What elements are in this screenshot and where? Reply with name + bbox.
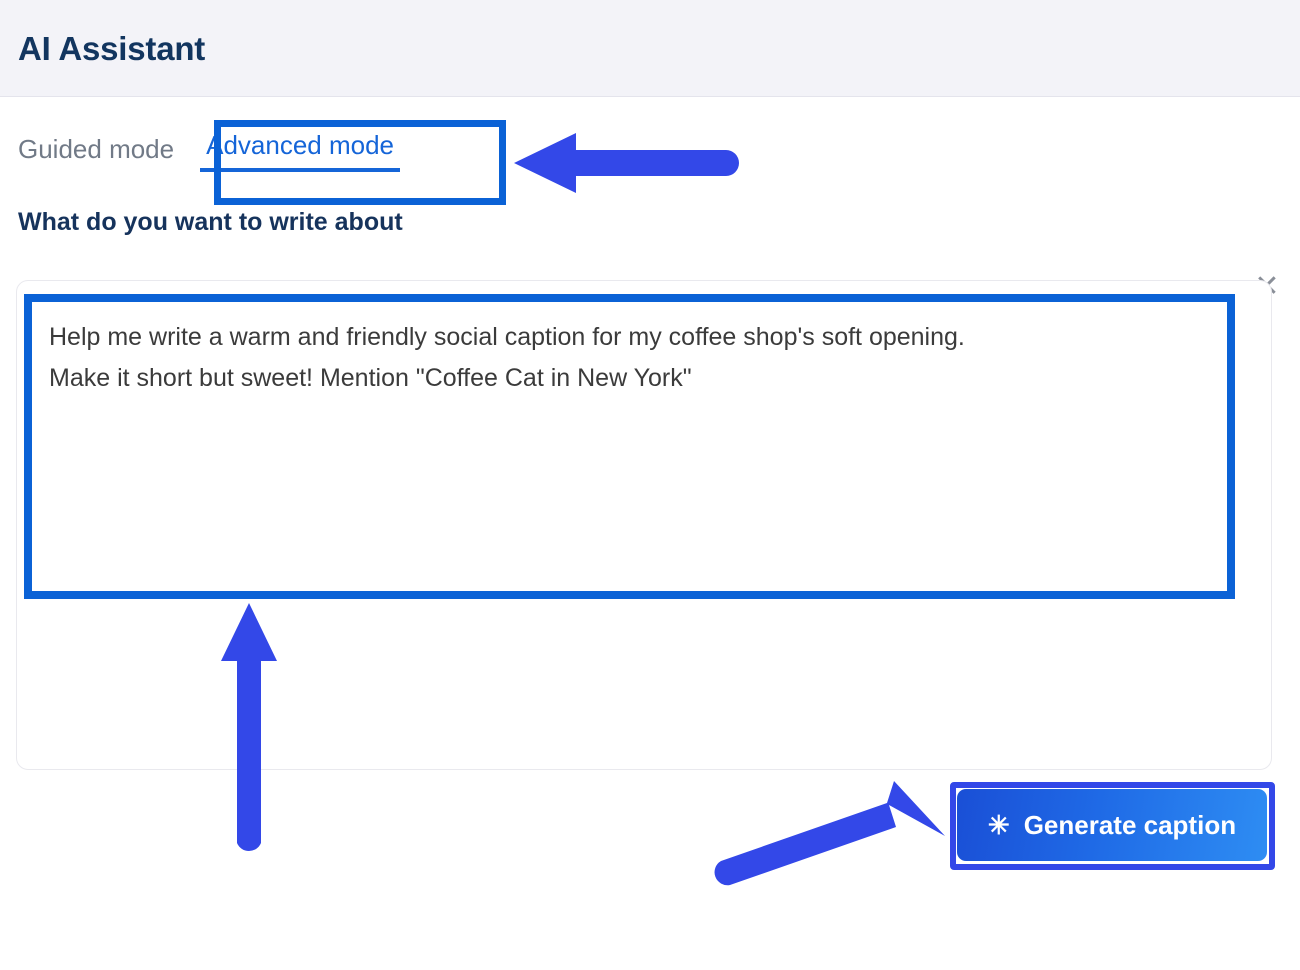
tab-guided-mode[interactable]: Guided mode [18,135,200,172]
app-header: AI Assistant [0,0,1300,97]
tab-advanced-mode[interactable]: Advanced mode [200,131,400,172]
prompt-textarea-value[interactable]: Help me write a warm and friendly social… [49,317,1229,399]
generate-caption-label: Generate caption [1024,810,1236,841]
prompt-field-label: What do you want to write about [0,210,1300,235]
generate-caption-button[interactable]: ✳ Generate caption [957,789,1267,861]
diagonal-arrow-icon [715,781,945,885]
page-title: AI Assistant [18,32,205,65]
prompt-card[interactable]: Help me write a warm and friendly social… [16,280,1272,770]
sparkle-icon: ✳ [988,812,1010,838]
mode-tabs: Guided mode Advanced mode [0,124,1300,172]
